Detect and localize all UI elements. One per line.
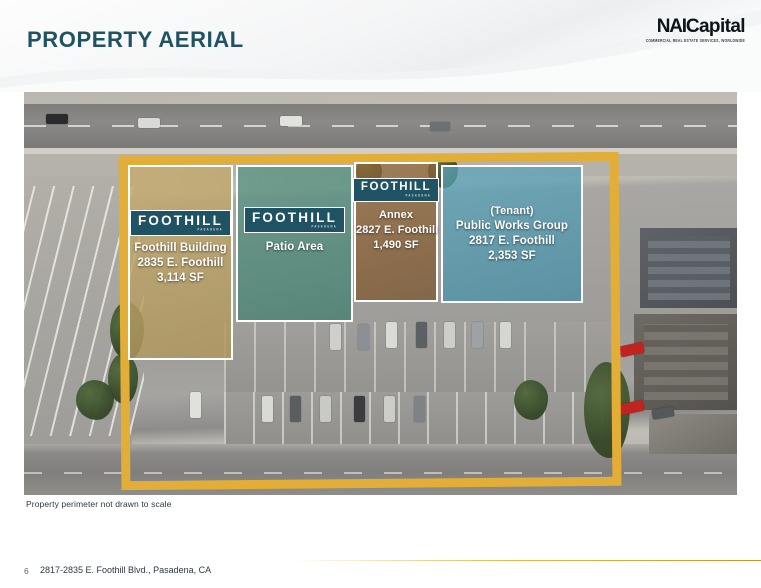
footer-page-number: 6 <box>24 566 29 576</box>
photo-car <box>280 116 302 126</box>
parcel-tenant-label: (Tenant) <box>443 204 581 219</box>
footer-address: 2817-2835 E. Foothill Blvd., Pasadena, C… <box>40 565 211 575</box>
parcel-label-line: 2827 E. Foothill <box>356 223 436 238</box>
foothill-badge-sub: PASADENA <box>361 195 431 199</box>
parcel-annex[interactable]: FOOTHILL PASADENA Annex 2827 E. Foothill… <box>354 162 438 302</box>
parcel-patio-area[interactable]: FOOTHILL PASADENA Patio Area <box>236 165 353 322</box>
logo-nai-text: NAI <box>657 16 686 37</box>
photo-building-right-middle <box>634 314 737 410</box>
foothill-badge-wrap: FOOTHILL PASADENA <box>244 207 345 233</box>
foothill-logo-badge: FOOTHILL PASADENA <box>353 178 439 202</box>
parcel-label-line: 2817 E. Foothill <box>443 234 581 249</box>
parcel-label-line: Annex <box>356 208 436 223</box>
photo-car <box>46 114 68 124</box>
aerial-photo: FOOTHILL PASADENA Foothill Building 2835… <box>24 92 737 495</box>
logo-wordmark: NAICapital <box>646 17 745 36</box>
page-header: PROPERTY AERIAL NAICapital COMMERCIAL RE… <box>0 0 761 92</box>
foothill-logo-badge: FOOTHILL PASADENA <box>130 210 231 236</box>
photo-car <box>430 122 450 131</box>
foothill-badge-word: FOOTHILL <box>138 214 223 228</box>
page-title: PROPERTY AERIAL <box>27 27 244 53</box>
foothill-badge-sub: PASADENA <box>252 226 337 230</box>
parcel-label-line: 2835 E. Foothill <box>130 256 231 271</box>
photo-street-top <box>24 104 737 148</box>
foothill-badge-wrap: FOOTHILL PASADENA <box>353 178 439 202</box>
parcel-label-line: Public Works Group <box>443 219 581 234</box>
nai-capital-logo: NAICapital COMMERCIAL REAL ESTATE SERVIC… <box>646 17 745 42</box>
foothill-badge-wrap: FOOTHILL PASADENA <box>130 210 231 236</box>
parcel-label-line: Foothill Building <box>130 241 231 256</box>
photo-vegetation <box>76 380 114 420</box>
parcel-label-line: 3,114 SF <box>130 271 231 286</box>
parcel-public-works-group[interactable]: (Tenant) Public Works Group 2817 E. Foot… <box>441 165 583 303</box>
logo-capital-text: Capital <box>686 16 745 37</box>
parcel-label-lines: Foothill Building 2835 E. Foothill 3,114… <box>130 241 231 286</box>
footer-divider-rule <box>290 560 761 561</box>
parcel-label-lines: Patio Area <box>238 240 351 255</box>
foothill-logo-badge: FOOTHILL PASADENA <box>244 207 345 233</box>
parcel-label-line: Patio Area <box>238 240 351 255</box>
foothill-badge-sub: PASADENA <box>138 229 223 233</box>
parcel-label-lines: (Tenant) Public Works Group 2817 E. Foot… <box>443 204 581 264</box>
logo-tagline: COMMERCIAL REAL ESTATE SERVICES, WORLDWI… <box>646 38 745 43</box>
parcel-label-line: 2,353 SF <box>443 249 581 264</box>
photo-caption: Property perimeter not drawn to scale <box>26 499 171 509</box>
photo-building-right-upper <box>640 228 737 308</box>
photo-car <box>138 118 160 128</box>
parcel-foothill-building[interactable]: FOOTHILL PASADENA Foothill Building 2835… <box>128 165 233 360</box>
foothill-badge-word: FOOTHILL <box>252 211 337 225</box>
photo-building-right-lower <box>649 414 737 454</box>
foothill-badge-word: FOOTHILL <box>361 182 431 194</box>
parcel-label-lines: Annex 2827 E. Foothill 1,490 SF <box>356 208 436 253</box>
parcel-label-line: 1,490 SF <box>356 238 436 253</box>
